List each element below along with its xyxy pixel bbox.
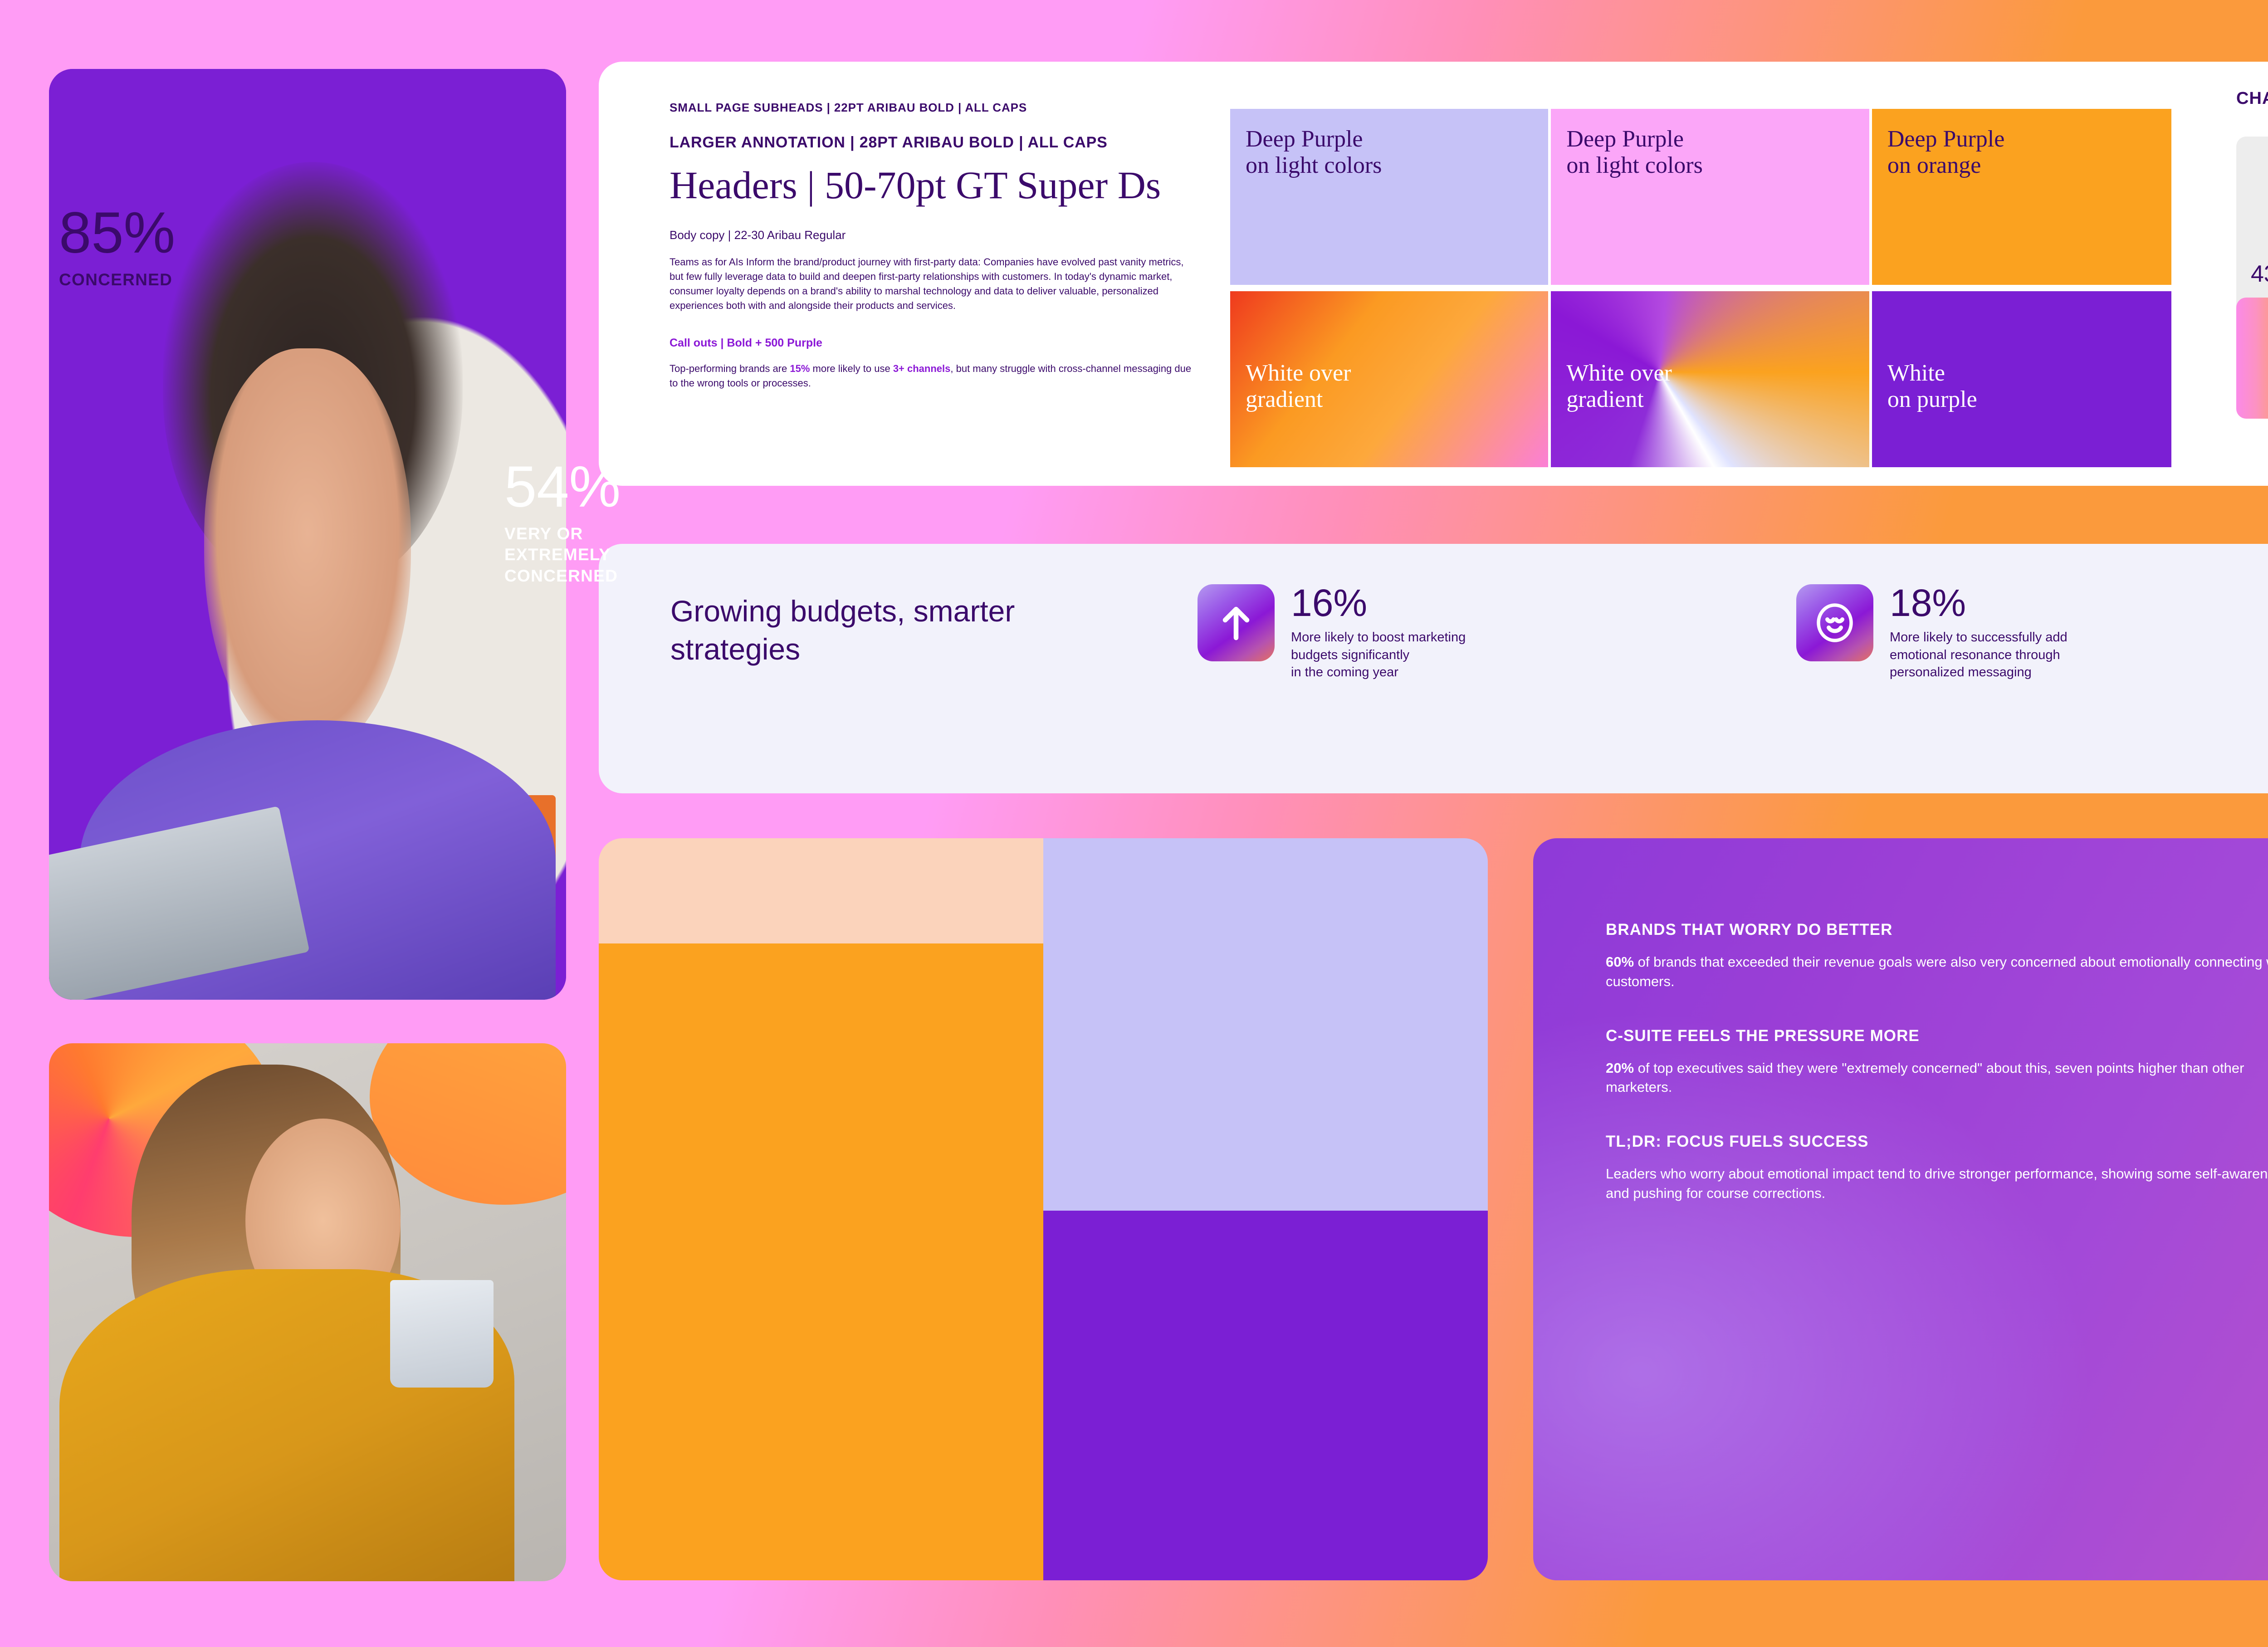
insight-stat: 60% bbox=[1606, 954, 1634, 970]
swatch-label: White over gradient bbox=[1246, 360, 1351, 413]
insight-heading: TL;DR: FOCUS FUELS SUCCESS bbox=[1606, 1133, 2268, 1151]
insight-copy: of brands that exceeded their revenue go… bbox=[1606, 954, 2268, 989]
type-callout-label: Call outs | Bold + 500 Purple bbox=[670, 337, 1196, 350]
color-swatch-grid: Deep Purple on light colors Deep Purple … bbox=[1230, 109, 2171, 467]
bar-track-1: 43% bbox=[2236, 137, 2268, 419]
insight-stat: 20% bbox=[1606, 1060, 1634, 1076]
stat-54-very-extremely-concerned: 54% VERY OR EXTREMELY CONCERNED bbox=[504, 458, 621, 586]
swatch-deep-purple-on-pink: Deep Purple on light colors bbox=[1551, 109, 1869, 285]
chart-body: 43% 29% Top concern:43% of respondents w… bbox=[2236, 137, 2268, 419]
quad-label: VERY OR EXTREMELY CONCERNED bbox=[504, 523, 621, 586]
style-guide-board: SMALL PAGE SUBHEADS | 22PT ARIBAU BOLD |… bbox=[0, 0, 2268, 1647]
stat-emotional-resonance: 18% More likely to successfully add emot… bbox=[1796, 584, 2068, 681]
stat-text: 16% More likely to boost marketing budge… bbox=[1291, 584, 1466, 681]
insight-body: Leaders who worry about emotional impact… bbox=[1606, 1164, 2268, 1203]
insight-body: 60% of brands that exceeded their revenu… bbox=[1606, 953, 2268, 992]
swatch-label: Deep Purple on orange bbox=[1887, 126, 2004, 179]
bar-value-1: 43% bbox=[2236, 260, 2268, 288]
type-subhead-sample: SMALL PAGE SUBHEADS | 22PT ARIBAU BOLD |… bbox=[670, 101, 1196, 115]
insight-heading: BRANDS THAT WORRY DO BETTER bbox=[1606, 921, 2268, 939]
type-body-label: Body copy | 22-30 Aribau Regular bbox=[670, 228, 1196, 242]
type-callout-sample: Top-performing brands are 15% more likel… bbox=[670, 362, 1196, 391]
concern-quadrant-card bbox=[599, 838, 1488, 1580]
insight-copy: of top executives said they were "extrem… bbox=[1606, 1060, 2244, 1095]
typography-specimen: SMALL PAGE SUBHEADS | 22PT ARIBAU BOLD |… bbox=[670, 101, 1196, 391]
insight-brands-worry: BRANDS THAT WORRY DO BETTER 60% of brand… bbox=[1606, 921, 2268, 992]
swatch-row-white-text: White over gradient White over gradient … bbox=[1230, 291, 2171, 467]
swatch-deep-purple-on-orange: Deep Purple on orange bbox=[1872, 109, 2171, 285]
stat-value: 18% bbox=[1890, 584, 2068, 621]
callout-stat-2: 3+ channels bbox=[893, 363, 951, 374]
stat-85-concerned: 85% CONCERNED bbox=[59, 204, 175, 290]
swatch-white-over-warm-gradient: White over gradient bbox=[1230, 291, 1548, 467]
bar-fill-1 bbox=[2236, 298, 2268, 419]
quad-peach-block bbox=[599, 838, 1043, 943]
bar-chart: 43% 29% bbox=[2236, 137, 2268, 419]
chart-title: CHART AND GRAPH STYLES bbox=[2236, 89, 2268, 108]
insights-text: BRANDS THAT WORRY DO BETTER 60% of brand… bbox=[1606, 921, 2268, 1203]
insight-c-suite: C-SUITE FEELS THE PRESSURE MORE 20% of t… bbox=[1606, 1027, 2268, 1098]
swatch-label: White over gradient bbox=[1566, 360, 1672, 413]
swatch-label: Deep Purple on light colors bbox=[1246, 126, 1382, 179]
quad-periwinkle-block bbox=[1043, 838, 1488, 1211]
swatch-label: Deep Purple on light colors bbox=[1566, 126, 1702, 179]
photo-face-shape bbox=[204, 348, 411, 758]
type-body-sample: Teams as for AIs Inform the brand/produc… bbox=[670, 255, 1196, 313]
photo-woman-with-mug bbox=[49, 1043, 566, 1581]
arrow-up-icon bbox=[1198, 584, 1275, 661]
stat-description: More likely to successfully add emotiona… bbox=[1890, 629, 2068, 681]
insight-body: 20% of top executives said they were "ex… bbox=[1606, 1059, 2268, 1098]
quad-label: CONCERNED bbox=[59, 269, 175, 290]
photo-mug-shape bbox=[390, 1280, 494, 1388]
quad-value: 85% bbox=[59, 204, 175, 262]
stat-boost-budgets: 16% More likely to boost marketing budge… bbox=[1198, 584, 1466, 681]
callout-pre: Top-performing brands are bbox=[670, 363, 790, 374]
insight-tldr: TL;DR: FOCUS FUELS SUCCESS Leaders who w… bbox=[1606, 1133, 2268, 1203]
insight-copy: Leaders who worry about emotional impact… bbox=[1606, 1166, 2268, 1201]
chart-and-graph-styles: CHART AND GRAPH STYLES 43% 29% Top conce… bbox=[2236, 89, 2268, 419]
stats-band-title: Growing budgets, smarter strategies bbox=[670, 592, 1147, 669]
quad-value: 54% bbox=[504, 458, 621, 516]
callout-mid: more likely to use bbox=[810, 363, 893, 374]
quad-purple-block bbox=[1043, 1211, 1488, 1580]
swatch-row-dark-text: Deep Purple on light colors Deep Purple … bbox=[1230, 109, 2171, 285]
stat-text: 18% More likely to successfully add emot… bbox=[1890, 584, 2068, 681]
swatch-label: White on purple bbox=[1887, 360, 1977, 413]
insight-heading: C-SUITE FEELS THE PRESSURE MORE bbox=[1606, 1027, 2268, 1045]
type-annotation-sample: LARGER ANNOTATION | 28PT ARIBAU BOLD | A… bbox=[670, 134, 1196, 152]
quad-orange-block bbox=[599, 943, 1043, 1580]
swatch-white-on-purple: White on purple bbox=[1872, 291, 2171, 467]
swatch-white-over-conic-gradient: White over gradient bbox=[1551, 291, 1869, 467]
smiley-face-icon bbox=[1796, 584, 1873, 661]
stat-description: More likely to boost marketing budgets s… bbox=[1291, 629, 1466, 681]
type-header-sample: Headers | 50-70pt GT Super Ds bbox=[670, 165, 1196, 205]
stat-value: 16% bbox=[1291, 584, 1466, 621]
callout-stat-1: 15% bbox=[790, 363, 810, 374]
swatch-deep-purple-on-periwinkle: Deep Purple on light colors bbox=[1230, 109, 1548, 285]
